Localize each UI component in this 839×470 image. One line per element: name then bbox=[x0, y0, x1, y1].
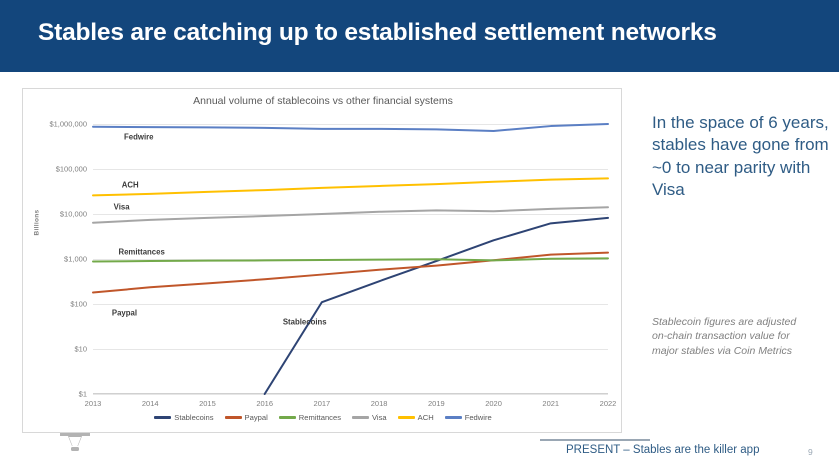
page-number: 9 bbox=[808, 447, 813, 457]
gridline bbox=[93, 394, 608, 395]
series-label: Stablecoins bbox=[283, 317, 327, 326]
legend-swatch-icon bbox=[398, 416, 415, 418]
x-tick-label: 2014 bbox=[142, 399, 159, 408]
series-label: Paypal bbox=[112, 309, 137, 318]
footer-label: PRESENT – Stables are the killer app bbox=[566, 444, 759, 456]
legend-label: Visa bbox=[372, 413, 387, 422]
y-tick-label: $1,000 bbox=[64, 255, 87, 264]
legend-swatch-icon bbox=[279, 416, 296, 418]
x-tick-label: 2015 bbox=[199, 399, 216, 408]
footnote-text: Stablecoin figures are adjusted on-chain… bbox=[652, 315, 812, 358]
legend-item[interactable]: Fedwire bbox=[445, 413, 492, 422]
series-line bbox=[265, 218, 608, 394]
series-lines bbox=[93, 124, 608, 394]
footer-rule bbox=[540, 439, 650, 441]
plot-area: $1,000,000$100,000$10,000$1,000$100$10$1… bbox=[93, 124, 608, 394]
series-label: ACH bbox=[122, 181, 139, 190]
x-tick-label: 2022 bbox=[600, 399, 617, 408]
y-tick-label: $100,000 bbox=[56, 165, 87, 174]
chart-legend: StablecoinsPaypalRemittancesVisaACHFedwi… bbox=[23, 413, 623, 422]
x-tick-label: 2017 bbox=[314, 399, 331, 408]
series-line bbox=[93, 178, 608, 195]
chart-title: Annual volume of stablecoins vs other fi… bbox=[23, 95, 623, 107]
legend-item[interactable]: ACH bbox=[398, 413, 434, 422]
callout-text: In the space of 6 years, stables have go… bbox=[652, 112, 832, 202]
y-axis-title: Billions bbox=[34, 193, 41, 253]
y-tick-label: $10,000 bbox=[60, 210, 87, 219]
legend-swatch-icon bbox=[154, 416, 171, 418]
series-label: Visa bbox=[114, 202, 130, 211]
legend-item[interactable]: Remittances bbox=[279, 413, 341, 422]
y-tick-label: $100 bbox=[70, 300, 87, 309]
title-band: Stables are catching up to established s… bbox=[0, 0, 839, 72]
legend-label: Paypal bbox=[245, 413, 268, 422]
series-line bbox=[93, 124, 608, 131]
slide: Stables are catching up to established s… bbox=[0, 0, 839, 470]
legend-swatch-icon bbox=[445, 416, 462, 418]
legend-item[interactable]: Stablecoins bbox=[154, 413, 213, 422]
x-tick-label: 2021 bbox=[542, 399, 559, 408]
page-title: Stables are catching up to established s… bbox=[38, 19, 717, 47]
chart-card: Annual volume of stablecoins vs other fi… bbox=[22, 88, 622, 433]
series-line bbox=[93, 258, 608, 261]
series-line bbox=[93, 207, 608, 222]
legend-swatch-icon bbox=[352, 416, 369, 418]
legend-item[interactable]: Paypal bbox=[225, 413, 268, 422]
x-tick-label: 2019 bbox=[428, 399, 445, 408]
series-label: Remittances bbox=[118, 247, 164, 256]
legend-item[interactable]: Visa bbox=[352, 413, 387, 422]
legend-label: Fedwire bbox=[465, 413, 492, 422]
x-tick-label: 2018 bbox=[371, 399, 388, 408]
logo-icon bbox=[58, 430, 92, 456]
legend-swatch-icon bbox=[225, 416, 242, 418]
y-tick-label: $1,000,000 bbox=[49, 120, 87, 129]
legend-label: Remittances bbox=[299, 413, 341, 422]
legend-label: ACH bbox=[418, 413, 434, 422]
series-label: Fedwire bbox=[124, 132, 153, 141]
y-tick-label: $1 bbox=[79, 390, 87, 399]
y-tick-label: $10 bbox=[74, 345, 87, 354]
x-tick-label: 2013 bbox=[85, 399, 102, 408]
x-tick-label: 2020 bbox=[485, 399, 502, 408]
legend-label: Stablecoins bbox=[174, 413, 213, 422]
x-tick-label: 2016 bbox=[256, 399, 273, 408]
